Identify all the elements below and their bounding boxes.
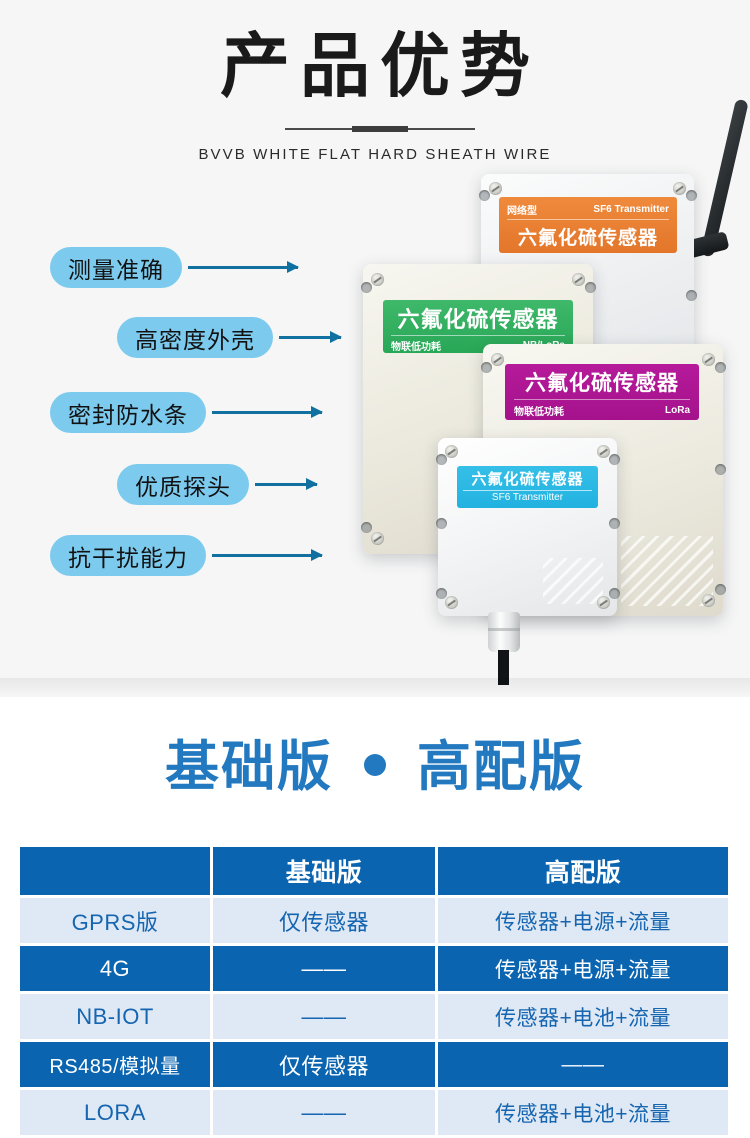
feature-pill[interactable]: 密封防水条	[50, 392, 206, 433]
screw-icon	[371, 532, 384, 545]
screw-icon	[673, 182, 686, 195]
table-cell-premium: ——	[438, 1042, 728, 1087]
feature-label: 高密度外壳	[135, 321, 255, 355]
arrow-right-icon	[255, 483, 317, 486]
table-cell-basic: ——	[213, 946, 435, 991]
screw-icon	[445, 596, 458, 609]
feature-label: 优质探头	[135, 468, 231, 502]
device-tag-left: 物联低功耗	[514, 403, 564, 418]
table-row: GPRS版 仅传感器 传感器+电源+流量	[20, 898, 730, 943]
table-cell-premium: 传感器+电源+流量	[438, 946, 728, 991]
table-cell-basic: 仅传感器	[213, 898, 435, 943]
device-label-network: 网络型 SF6 Transmitter 六氟化硫传感器	[499, 197, 677, 253]
device-label-sf6: 六氟化硫传感器 SF6 Transmitter	[457, 466, 598, 508]
heading-basic: 基础版	[165, 737, 333, 797]
device-label-title: 六氟化硫传感器	[514, 367, 690, 400]
table-cell-premium: 传感器+电池+流量	[438, 994, 728, 1039]
table-header-row: 基础版 高配版	[20, 847, 730, 895]
device-label-subtitle: SF6 Transmitter	[463, 492, 592, 503]
device-tag-right: LoRa	[665, 405, 690, 416]
table-cell-model: NB-IOT	[20, 994, 210, 1039]
feature-item-2[interactable]: 高密度外壳	[117, 317, 341, 358]
table-cell-model: LORA	[20, 1090, 210, 1135]
screw-icon	[702, 594, 715, 607]
device-tag-right: SF6 Transmitter	[593, 204, 669, 215]
device-label-title: 六氟化硫传感器	[507, 223, 669, 250]
cable-gland	[488, 612, 520, 652]
screw-icon	[597, 596, 610, 609]
section-shadow	[0, 678, 750, 697]
table-cell-basic: 仅传感器	[213, 1042, 435, 1087]
product-device-sf6: 六氟化硫传感器 SF6 Transmitter	[438, 438, 617, 616]
device-label-title: 六氟化硫传感器	[391, 302, 565, 336]
table-cell-model: RS485/模拟量	[20, 1042, 210, 1087]
table-header-cell-premium: 高配版	[438, 847, 728, 895]
device-tag-left: 物联低功耗	[391, 338, 441, 353]
table-cell-basic: ——	[213, 1090, 435, 1135]
screw-icon	[489, 182, 502, 195]
screw-icon	[445, 445, 458, 458]
screw-icon	[572, 273, 585, 286]
mounting-ear	[600, 510, 628, 536]
device-body	[438, 438, 617, 616]
table-row: RS485/模拟量 仅传感器 ——	[20, 1042, 730, 1087]
product-photo-group: 网络型 SF6 Transmitter 六氟化硫传感器 六氟化硫传感器 物	[0, 0, 750, 697]
device-tag-left: 网络型	[507, 202, 537, 217]
table-header-cell-basic: 基础版	[213, 847, 435, 895]
vent-lines	[621, 536, 713, 606]
arrow-right-icon	[212, 411, 322, 414]
arrow-right-icon	[212, 554, 322, 557]
feature-pill[interactable]: 测量准确	[50, 247, 182, 288]
heading-premium: 高配版	[417, 737, 585, 797]
table-cell-model: 4G	[20, 946, 210, 991]
mounting-ear	[677, 282, 705, 308]
device-label-tags: 物联低功耗 LoRa	[514, 403, 690, 418]
device-label-lora: 六氟化硫传感器 物联低功耗 LoRa	[505, 364, 699, 420]
screw-icon	[597, 445, 610, 458]
comparison-heading: 基础版 高配版	[0, 736, 750, 798]
comparison-table: 基础版 高配版 GPRS版 仅传感器 传感器+电源+流量 4G —— 传感器+电…	[20, 847, 730, 1138]
feature-pill[interactable]: 高密度外壳	[117, 317, 273, 358]
table-cell-basic: ——	[213, 994, 435, 1039]
table-cell-premium: 传感器+电源+流量	[438, 898, 728, 943]
table-row: 4G —— 传感器+电源+流量	[20, 946, 730, 991]
feature-label: 密封防水条	[68, 396, 188, 430]
feature-pill[interactable]: 优质探头	[117, 464, 249, 505]
device-label-tags: 网络型 SF6 Transmitter	[507, 202, 669, 220]
feature-label: 测量准确	[68, 251, 164, 285]
device-label-title: 六氟化硫传感器	[463, 468, 592, 491]
hero-section: 产品优势 BVVB WHITE FLAT HARD SHEATH WIRE 网络…	[0, 0, 750, 697]
table-cell-premium: 传感器+电池+流量	[438, 1090, 728, 1135]
table-cell-model: GPRS版	[20, 898, 210, 943]
arrow-right-icon	[188, 266, 298, 269]
bullet-dot-icon	[364, 754, 386, 776]
feature-item-5[interactable]: 抗干扰能力	[50, 535, 322, 576]
mounting-ear	[706, 456, 734, 482]
mounting-ear	[427, 510, 455, 536]
table-header-cell-blank	[20, 847, 210, 895]
feature-item-1[interactable]: 测量准确	[50, 247, 298, 288]
feature-pill[interactable]: 抗干扰能力	[50, 535, 206, 576]
table-row: LORA —— 传感器+电池+流量	[20, 1090, 730, 1135]
table-row: NB-IOT —— 传感器+电池+流量	[20, 994, 730, 1039]
feature-item-3[interactable]: 密封防水条	[50, 392, 322, 433]
screw-icon	[491, 353, 504, 366]
feature-label: 抗干扰能力	[68, 539, 188, 573]
screw-icon	[371, 273, 384, 286]
vent-lines	[543, 558, 603, 604]
feature-item-4[interactable]: 优质探头	[117, 464, 317, 505]
arrow-right-icon	[279, 336, 341, 339]
screw-icon	[702, 353, 715, 366]
